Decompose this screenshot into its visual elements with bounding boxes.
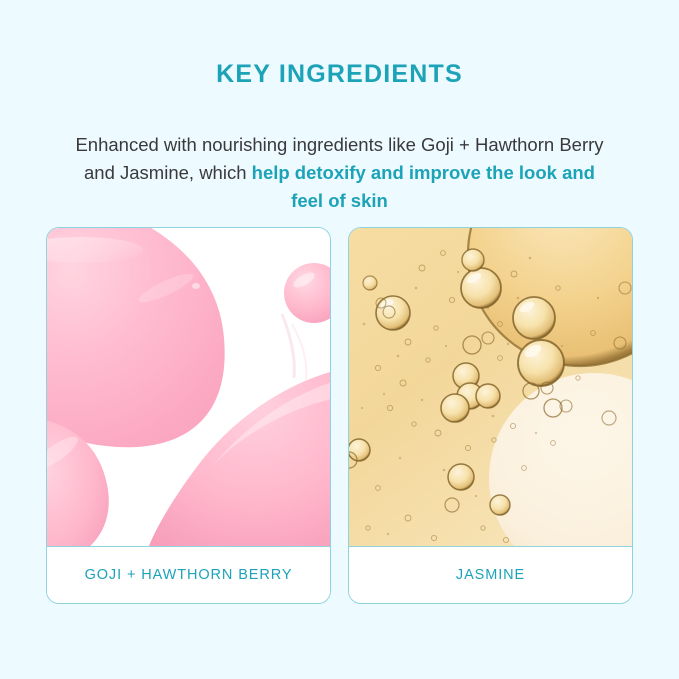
ingredient-card-goji-hawthorn-berry[interactable]: GOJI + HAWTHORN BERRY	[46, 227, 331, 604]
card-caption-jasmine: JASMINE	[349, 546, 632, 603]
key-ingredients-panel: KEY INGREDIENTS Enhanced with nourishing…	[0, 0, 679, 679]
card-caption-goji-hawthorn-berry: GOJI + HAWTHORN BERRY	[47, 546, 330, 603]
card-caption-label: GOJI + HAWTHORN BERRY	[85, 567, 293, 583]
header: KEY INGREDIENTS	[0, 58, 679, 90]
golden-oil-bubbles-image	[349, 228, 632, 546]
pink-serum-droplets-image	[47, 228, 330, 546]
card-caption-label: JASMINE	[456, 567, 525, 583]
ingredient-card-row: GOJI + HAWTHORN BERRY	[46, 227, 633, 604]
subheading-accent-text: help detoxify and improve the look and f…	[252, 162, 595, 211]
page-title: KEY INGREDIENTS	[0, 58, 679, 90]
subheading-paragraph: Enhanced with nourishing ingredients lik…	[75, 131, 605, 215]
ingredient-card-jasmine[interactable]: JASMINE	[348, 227, 633, 604]
